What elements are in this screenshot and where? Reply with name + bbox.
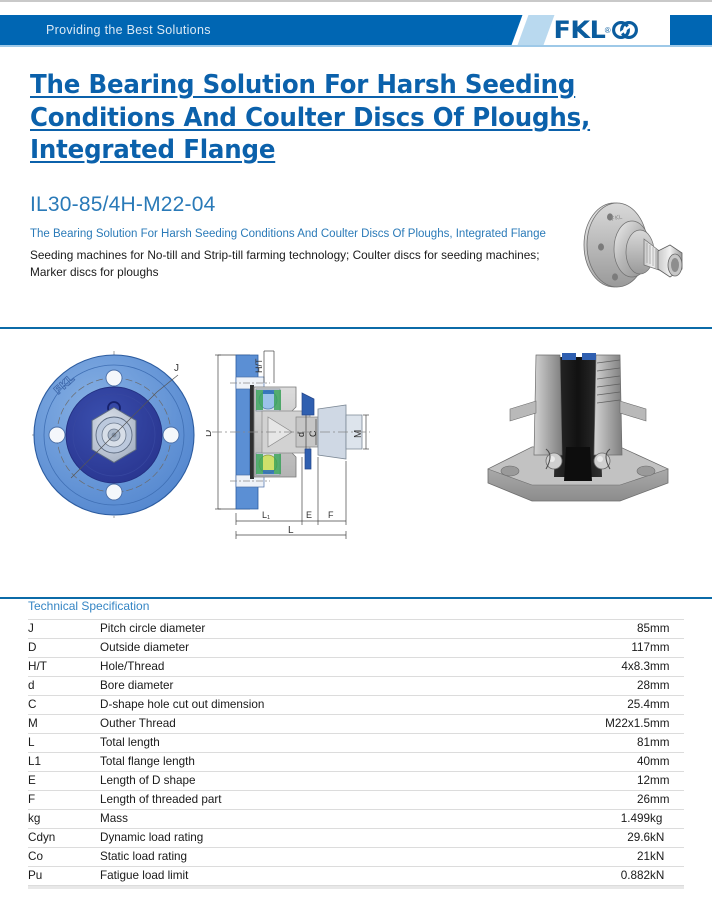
spec-value: M22x1.5 — [532, 714, 650, 733]
logo-wordmark: FKL — [554, 18, 606, 42]
spec-description: Dynamic load rating — [100, 828, 532, 847]
table-row: JPitch circle diameter85mm — [28, 619, 684, 638]
spec-unit: mm — [650, 619, 684, 638]
spec-description: Length of threaded part — [100, 790, 532, 809]
spec-description: Fatigue load limit — [100, 866, 532, 885]
dimension-label-HT: H/T — [254, 358, 264, 373]
spec-symbol: Pu — [28, 866, 100, 885]
product-description: The Bearing Solution For Harsh Seeding C… — [30, 226, 550, 243]
spec-symbol: C — [28, 695, 100, 714]
spec-symbol: E — [28, 771, 100, 790]
page-title: The Bearing Solution For Harsh Seeding C… — [30, 69, 656, 167]
table-row: H/THole/Thread4x8.3mm — [28, 657, 684, 676]
spec-description: Pitch circle diameter — [100, 619, 532, 638]
spec-description: D-shape hole cut out dimension — [100, 695, 532, 714]
spec-symbol: Cdyn — [28, 828, 100, 847]
spec-value: 21 — [532, 847, 650, 866]
spec-unit: mm — [650, 771, 684, 790]
spec-symbol: L — [28, 733, 100, 752]
table-row: CD-shape hole cut out dimension25.4mm — [28, 695, 684, 714]
datasheet-page: Providing the Best Solutions FKL ® T — [0, 0, 712, 907]
spec-table: JPitch circle diameter85mmDOutside diame… — [28, 619, 684, 886]
spec-symbol: H/T — [28, 657, 100, 676]
spec-value: 26 — [532, 790, 650, 809]
drawing-cross-section: D H/T — [206, 337, 374, 548]
spec-description: Outher Thread — [100, 714, 532, 733]
spec-unit: mm — [650, 733, 684, 752]
logo-mark: FKL ® — [555, 15, 638, 45]
spec-value: 12 — [532, 771, 650, 790]
spec-symbol: L1 — [28, 752, 100, 771]
spec-value: 1.499 — [532, 809, 650, 828]
spec-description: Hole/Thread — [100, 657, 532, 676]
table-row: DOutside diameter117mm — [28, 638, 684, 657]
spec-symbol: d — [28, 676, 100, 695]
dimension-label-F: F — [328, 510, 334, 520]
spec-description: Outside diameter — [100, 638, 532, 657]
spec-unit: mm — [650, 657, 684, 676]
table-row: dBore diameter28mm — [28, 676, 684, 695]
interlocking-rings-icon — [612, 20, 638, 40]
spec-description: Total flange length — [100, 752, 532, 771]
spec-description: Static load rating — [100, 847, 532, 866]
spec-unit: kN — [650, 866, 684, 885]
spec-unit: mm — [650, 714, 684, 733]
spec-description: Length of D shape — [100, 771, 532, 790]
table-row: PuFatigue load limit0.882kN — [28, 866, 684, 885]
table-row: L1Total flange length40mm — [28, 752, 684, 771]
dimension-label-J: J — [174, 363, 179, 374]
spec-unit: mm — [650, 676, 684, 695]
spec-value: 29.6 — [532, 828, 650, 847]
table-row: FLength of threaded part26mm — [28, 790, 684, 809]
spec-value: 40 — [532, 752, 650, 771]
spec-description: Mass — [100, 809, 532, 828]
spec-table-body: JPitch circle diameter85mmDOutside diame… — [28, 619, 684, 885]
banner-tagline: Providing the Best Solutions — [46, 23, 211, 37]
spec-value: 25.4 — [532, 695, 650, 714]
table-row: LTotal length81mm — [28, 733, 684, 752]
drawing-3d-cutaway — [470, 351, 685, 526]
product-info: IL30-85/4H-M22-04 The Bearing Solution F… — [30, 193, 682, 305]
registered-trademark-icon: ® — [605, 26, 611, 35]
spec-unit: mm — [650, 638, 684, 657]
spec-description: Bore diameter — [100, 676, 532, 695]
spec-value: 85 — [532, 619, 650, 638]
spec-unit: mm — [650, 695, 684, 714]
technical-specification-section: Technical Specification JPitch circle di… — [28, 599, 684, 889]
spec-symbol: J — [28, 619, 100, 638]
product-applications: Seeding machines for No-till and Strip-t… — [30, 247, 565, 282]
spec-value: 28 — [532, 676, 650, 695]
spec-unit: mm — [650, 790, 684, 809]
spec-unit: kN — [650, 847, 684, 866]
dimension-label-E: E — [306, 510, 312, 520]
table-row: ELength of D shape12mm — [28, 771, 684, 790]
dimension-label-M: M — [353, 430, 364, 438]
dimension-label-L: L — [288, 525, 294, 536]
spec-description: Total length — [100, 733, 532, 752]
spec-symbol: Co — [28, 847, 100, 866]
spec-unit: mm — [650, 752, 684, 771]
dimension-label-C: C — [308, 430, 318, 437]
table-row: CdynDynamic load rating29.6kN — [28, 828, 684, 847]
spec-symbol: kg — [28, 809, 100, 828]
spec-symbol: D — [28, 638, 100, 657]
table-bottom-rule — [28, 886, 684, 889]
dimension-label-L1: L₁ — [262, 510, 270, 520]
spec-unit: kN — [650, 828, 684, 847]
header-banner: Providing the Best Solutions FKL ® — [0, 15, 712, 47]
drawing-front-view: FKL J — [28, 347, 200, 528]
spec-symbol: M — [28, 714, 100, 733]
technical-drawings: FKL J — [0, 329, 712, 597]
table-row: CoStatic load rating21kN — [28, 847, 684, 866]
dimension-label-d: d — [296, 432, 306, 437]
table-row: MOuther ThreadM22x1.5mm — [28, 714, 684, 733]
spec-value: 117 — [532, 638, 650, 657]
spec-symbol: F — [28, 790, 100, 809]
logo-right-fill — [670, 15, 712, 45]
product-photo: FKL — [570, 195, 688, 299]
spec-value: 81 — [532, 733, 650, 752]
spec-value: 0.882 — [532, 866, 650, 885]
spec-value: 4x8.3 — [532, 657, 650, 676]
dimension-label-D: D — [206, 430, 214, 437]
fkl-logo: FKL ® — [477, 15, 712, 45]
spec-unit: kg — [650, 809, 684, 828]
table-row: kgMass1.499kg — [28, 809, 684, 828]
spec-title: Technical Specification — [28, 599, 684, 613]
